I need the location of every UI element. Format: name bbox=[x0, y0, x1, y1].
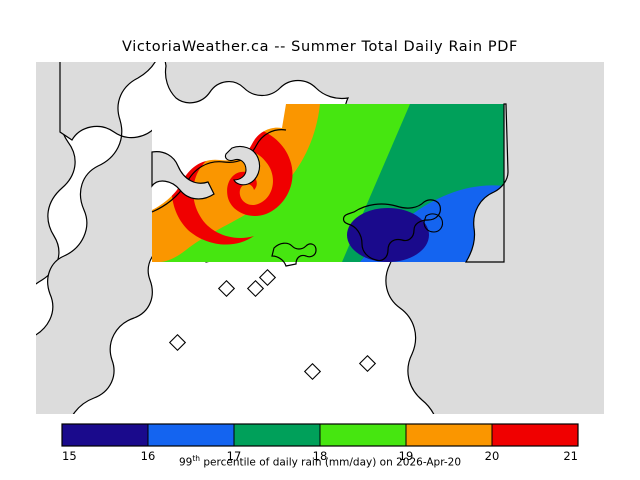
caption-ordinal: th bbox=[192, 454, 200, 463]
colorbar[interactable]: 15161718192021 bbox=[0, 418, 640, 480]
caption-rest: percentile of daily rain (mm/day) on 202… bbox=[200, 457, 461, 469]
colorbar-band-blue[interactable] bbox=[148, 424, 234, 446]
colorbar-caption: 99th percentile of daily rain (mm/day) o… bbox=[0, 454, 640, 469]
colorbar-band-red[interactable] bbox=[492, 424, 578, 446]
caption-prefix: 99 bbox=[179, 457, 192, 469]
colorbar-band-orange[interactable] bbox=[406, 424, 492, 446]
colorbar-band-teal-green[interactable] bbox=[234, 424, 320, 446]
visible-map bbox=[36, 62, 604, 414]
map-svg bbox=[36, 62, 604, 414]
colorbar-band-navy[interactable] bbox=[62, 424, 148, 446]
map-canvas[interactable] bbox=[36, 62, 604, 414]
colorbar-svg: 15161718192021 bbox=[0, 418, 640, 480]
colorbar-band-lime[interactable] bbox=[320, 424, 406, 446]
weather-map-figure: VictoriaWeather.ca -- Summer Total Daily… bbox=[0, 0, 640, 480]
colorbar-bands[interactable] bbox=[62, 424, 578, 446]
page-title: VictoriaWeather.ca -- Summer Total Daily… bbox=[0, 39, 640, 55]
